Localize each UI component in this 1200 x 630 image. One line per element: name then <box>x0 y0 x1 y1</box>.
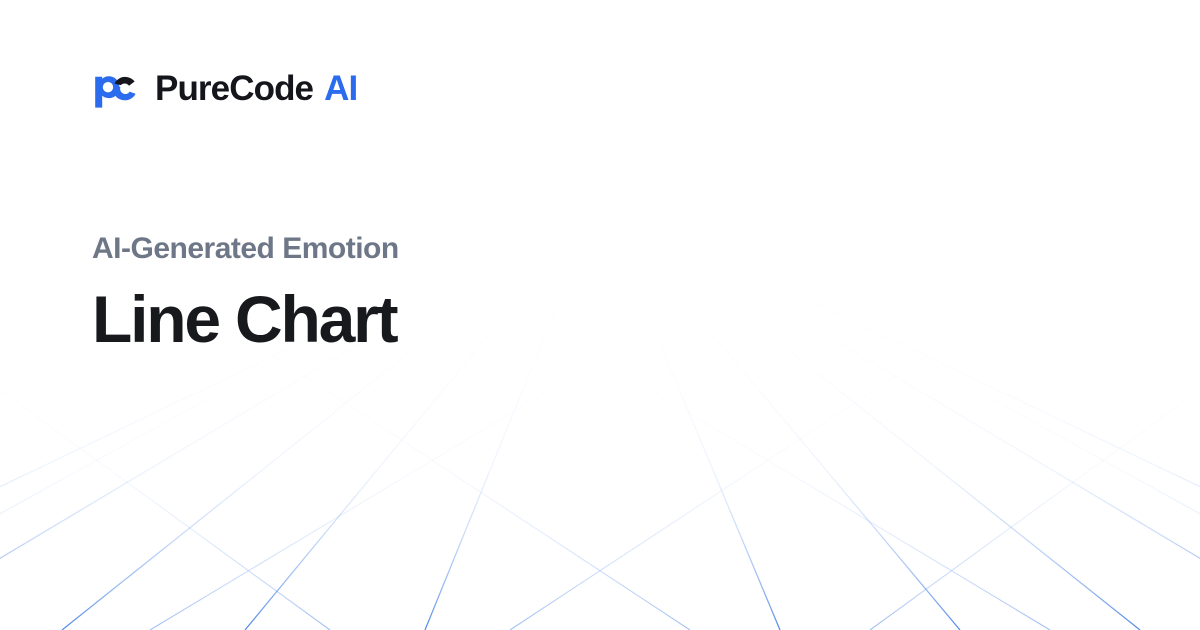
brand-name-accent: AI <box>324 71 357 106</box>
purecode-pc-monogram-icon <box>92 65 138 111</box>
brand-wordmark: PureCode AI <box>155 71 357 106</box>
og-card: PureCode AI AI-Generated Emotion Line Ch… <box>0 0 1200 630</box>
brand-name-primary: PureCode <box>155 71 313 106</box>
brand-logo[interactable]: PureCode AI <box>92 62 357 114</box>
headline-block: AI-Generated Emotion Line Chart <box>92 232 852 354</box>
eyebrow-text: AI-Generated Emotion <box>92 232 852 267</box>
page-title: Line Chart <box>92 285 852 354</box>
